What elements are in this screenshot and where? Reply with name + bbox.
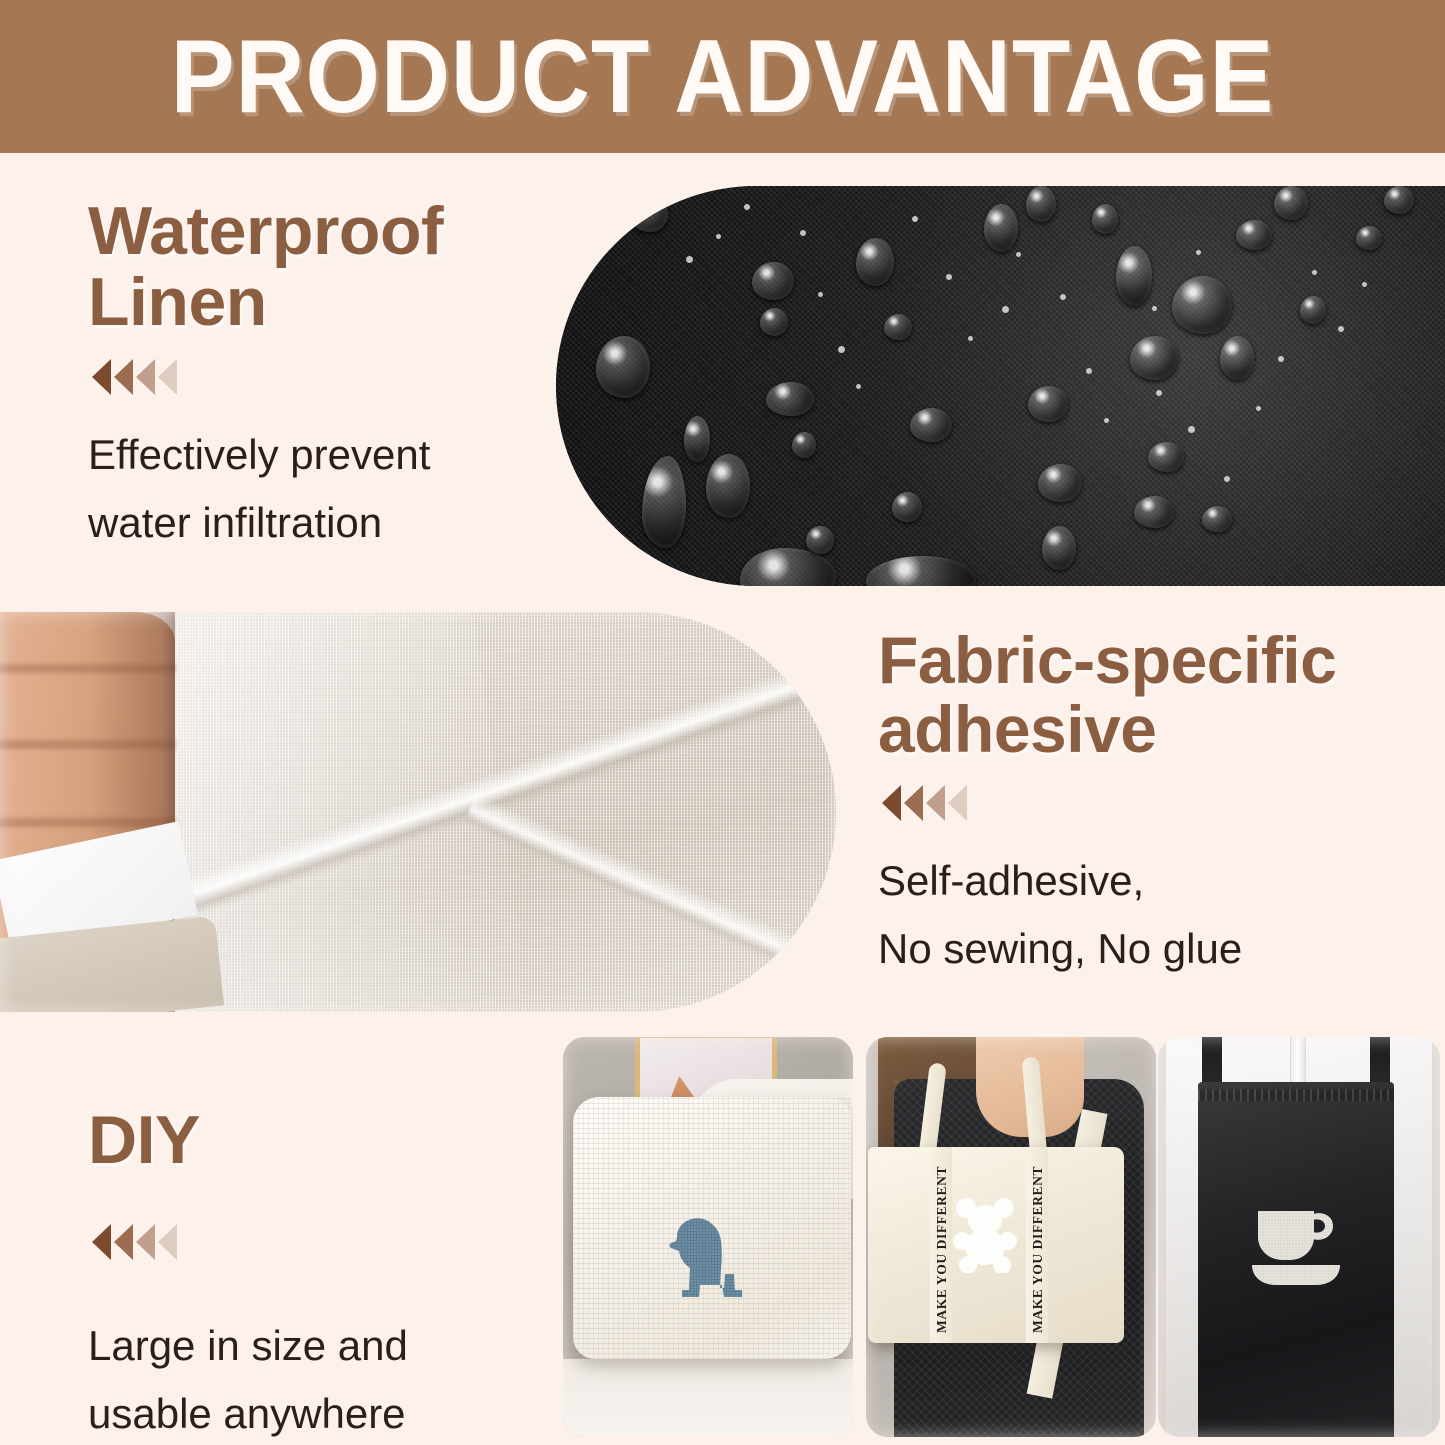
mist-speck xyxy=(1188,426,1195,433)
feature-waterproof-text: Waterproof Linen Effectively prevent wat… xyxy=(88,196,548,558)
chevron-4-icon xyxy=(158,359,177,395)
water-droplet xyxy=(1038,464,1082,502)
chevron-1-icon xyxy=(92,1224,111,1260)
floor xyxy=(563,1359,853,1437)
water-droplet xyxy=(1300,296,1326,324)
chevron-2-icon xyxy=(114,1224,133,1260)
feature-diy-text: DIY Large in size and usable anywhere xyxy=(88,1105,548,1445)
mist-speck xyxy=(1060,294,1066,300)
headline-line-1: Fabric-specific xyxy=(878,626,1418,695)
headline-line-2: adhesive xyxy=(878,695,1418,764)
water-droplet xyxy=(892,492,922,522)
feature-diy-desc-line-1: Large in size and xyxy=(88,1312,548,1380)
headline-line-1: DIY xyxy=(88,1105,548,1176)
water-droplet xyxy=(806,526,834,554)
mist-speck xyxy=(716,234,721,239)
water-droplet xyxy=(760,308,788,336)
feature-waterproof-desc-line-2: water infiltration xyxy=(88,489,548,557)
dog-silhouette-icon xyxy=(661,1205,766,1313)
water-droplet xyxy=(1202,506,1232,532)
feature-diy-desc-line-2: usable anywhere xyxy=(88,1380,548,1445)
water-droplet xyxy=(1274,186,1308,220)
chevron-4-icon xyxy=(948,785,967,821)
mist-speck xyxy=(1152,306,1157,311)
page-title: PRODUCT ADVANTAGE xyxy=(58,0,1387,153)
chevrons-left-icon xyxy=(92,359,548,395)
mist-speck xyxy=(1016,252,1021,257)
mist-speck xyxy=(912,216,918,222)
water-droplet xyxy=(766,382,814,416)
water-droplet xyxy=(792,432,816,458)
water-droplet xyxy=(1172,276,1232,334)
water-droplet xyxy=(884,314,912,340)
product-advantage-poster: PRODUCT ADVANTAGE Waterproof Linen Effec… xyxy=(0,0,1445,1445)
mist-speck xyxy=(856,384,861,389)
water-droplet xyxy=(1116,246,1152,306)
mist-speck xyxy=(818,292,823,297)
water-droplet xyxy=(856,238,894,286)
water-droplet xyxy=(1356,226,1382,250)
chevron-4-icon xyxy=(158,1224,177,1260)
bear-silhouette-icon xyxy=(952,1195,1018,1273)
mist-speck xyxy=(1362,282,1367,287)
water-droplet xyxy=(630,196,668,232)
bag-strap-left: MAKE YOU DIFFERENT xyxy=(930,1147,952,1343)
chevron-3-icon xyxy=(136,359,155,395)
feature-adhesive-text: Fabric-specific adhesive Self-adhesive, … xyxy=(878,626,1418,983)
feature-waterproof-desc-line-1: Effectively prevent xyxy=(88,421,548,489)
mist-speck xyxy=(1156,390,1162,396)
mist-speck xyxy=(1086,368,1092,374)
mist-speck xyxy=(1338,326,1344,332)
feature-adhesive-desc-line-2: No sewing, No glue xyxy=(878,915,1418,983)
headline-line-1: Waterproof xyxy=(88,196,548,267)
water-droplet xyxy=(1220,336,1254,380)
feature-adhesive-desc-line-1: Self-adhesive, xyxy=(878,847,1418,915)
chevron-1-icon xyxy=(92,359,111,395)
chevrons-left-icon xyxy=(882,785,1418,821)
mist-speck xyxy=(1002,306,1009,313)
mist-speck xyxy=(946,274,952,280)
headline-line-2: Linen xyxy=(88,267,548,338)
chevron-2-icon xyxy=(114,359,133,395)
water-droplet xyxy=(1130,336,1178,380)
mist-speck xyxy=(1278,356,1284,362)
mist-speck xyxy=(968,336,973,341)
water-droplet xyxy=(1384,186,1414,214)
waterproof-fabric-photo xyxy=(556,186,1445,586)
chevron-1-icon xyxy=(882,785,901,821)
chevron-3-icon xyxy=(136,1224,155,1260)
mist-speck xyxy=(838,346,845,353)
feature-waterproof-headline: Waterproof Linen xyxy=(88,196,548,337)
water-droplet xyxy=(1028,386,1068,422)
mist-speck xyxy=(1196,250,1201,255)
header-banner: PRODUCT ADVANTAGE xyxy=(0,0,1445,153)
feature-diy-headline: DIY xyxy=(88,1105,548,1176)
mist-speck xyxy=(1224,476,1230,482)
bag-strap-text: MAKE YOU DIFFERENT xyxy=(1030,1166,1046,1333)
teacup-silhouette-icon xyxy=(1250,1207,1342,1287)
water-droplet xyxy=(984,204,1018,252)
water-droplet xyxy=(910,408,952,442)
tote-bag-with-bear-patch-photo: MAKE YOU DIFFERENT MAKE YOU DIFFERENT xyxy=(866,1037,1156,1437)
water-droplet xyxy=(1236,220,1272,250)
water-droplet xyxy=(706,454,750,518)
bag-strap-right: MAKE YOU DIFFERENT xyxy=(1026,1147,1048,1343)
water-droplet xyxy=(596,336,650,398)
water-droplet xyxy=(1026,186,1056,222)
chevron-3-icon xyxy=(926,785,945,821)
mist-speck xyxy=(800,230,806,236)
mist-speck xyxy=(1256,406,1261,411)
water-droplet xyxy=(1148,442,1184,472)
mist-speck xyxy=(744,204,750,210)
feature-adhesive-headline: Fabric-specific adhesive xyxy=(878,626,1418,763)
pillow-with-dog-patch-photo xyxy=(563,1037,853,1437)
chevron-2-icon xyxy=(904,785,923,821)
water-droplet xyxy=(752,262,794,300)
apron-with-cup-patch-photo xyxy=(1158,1037,1440,1437)
water-droplet xyxy=(1092,204,1118,234)
water-droplet xyxy=(578,538,614,586)
mist-speck xyxy=(1312,270,1317,275)
chevrons-left-icon xyxy=(92,1224,548,1260)
mist-speck xyxy=(686,256,693,263)
linen-fabric-in-hand-photo xyxy=(0,612,836,1012)
water-droplet xyxy=(1134,496,1174,528)
water-droplet xyxy=(684,416,710,462)
water-droplet xyxy=(1042,526,1076,570)
bag-strap-text: MAKE YOU DIFFERENT xyxy=(934,1166,950,1333)
mist-speck xyxy=(1104,418,1109,423)
cushion xyxy=(573,1097,851,1359)
apron-gathered-seam xyxy=(1198,1089,1394,1101)
